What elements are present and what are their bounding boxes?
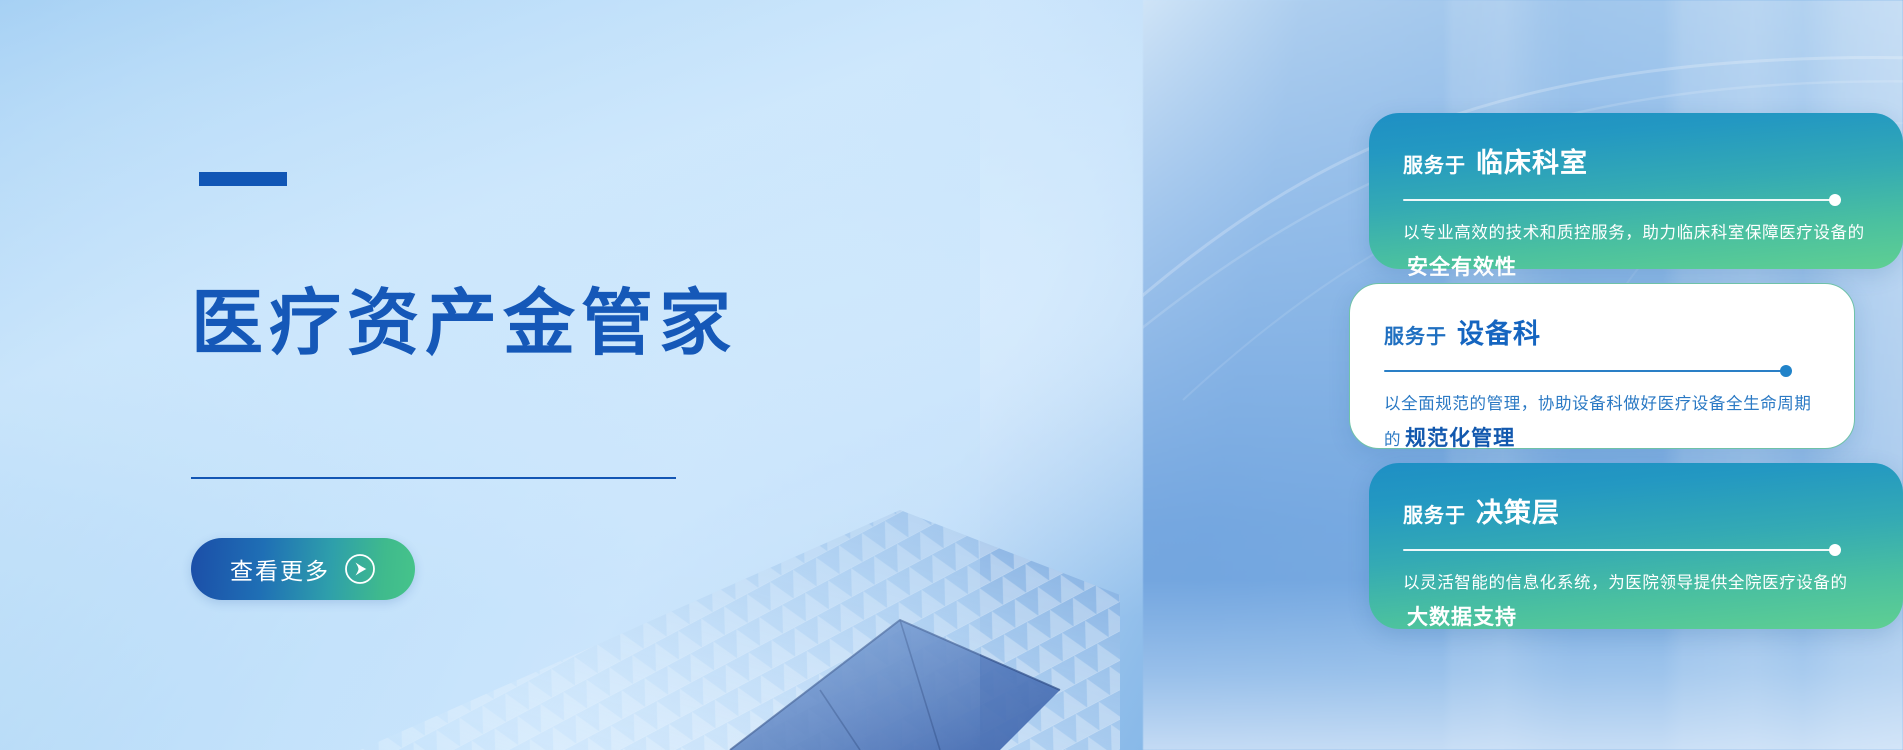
hero-left-content: 医疗资产金管家 查看更多 bbox=[191, 0, 891, 750]
card-heading: 服务于 决策层 bbox=[1403, 491, 1869, 530]
card-divider bbox=[1403, 194, 1869, 206]
divider-line bbox=[1384, 370, 1786, 372]
card-description-text: 以灵活智能的信息化系统，为医院领导提供全院医疗设备的 bbox=[1403, 574, 1848, 592]
divider-line bbox=[1403, 199, 1835, 201]
card-heading: 服务于 临床科室 bbox=[1403, 141, 1869, 180]
card-divider bbox=[1384, 365, 1820, 377]
view-more-label: 查看更多 bbox=[230, 552, 330, 586]
card-heading-subject: 临床科室 bbox=[1476, 141, 1588, 180]
accent-bar bbox=[199, 172, 287, 186]
card-description-text: 以专业高效的技术和质控服务，助力临床科室保障医疗设备的 bbox=[1403, 224, 1865, 242]
card-description-highlight: 大数据支持 bbox=[1407, 606, 1517, 629]
arrow-right-circle-icon bbox=[344, 553, 376, 585]
card-heading-prefix: 服务于 bbox=[1403, 499, 1466, 528]
card-heading: 服务于 设备科 bbox=[1384, 312, 1820, 351]
hero-banner: 医疗资产金管家 查看更多 服务于 临床科室 以专业高效的技术和质控服务，助力临床… bbox=[0, 0, 1903, 750]
title-divider-rule bbox=[191, 477, 676, 479]
service-card-decision-makers[interactable]: 服务于 决策层 以灵活智能的信息化系统，为医院领导提供全院医疗设备的大数据支持 bbox=[1369, 463, 1903, 629]
card-description-highlight: 安全有效性 bbox=[1407, 256, 1517, 279]
card-heading-prefix: 服务于 bbox=[1403, 149, 1466, 178]
divider-dot bbox=[1829, 544, 1841, 556]
page-title: 医疗资产金管家 bbox=[191, 288, 737, 360]
card-description-wrapper: 以全面规范的管理，协助设备科做好医疗设备全生命周期的规范化管理 bbox=[1384, 389, 1820, 458]
card-description-highlight: 规范化管理 bbox=[1405, 427, 1515, 450]
service-cards-list: 服务于 临床科室 以专业高效的技术和质控服务，助力临床科室保障医疗设备的安全有效… bbox=[1143, 0, 1903, 750]
divider-dot bbox=[1829, 194, 1841, 206]
card-description-wrapper: 以灵活智能的信息化系统，为医院领导提供全院医疗设备的大数据支持 bbox=[1403, 568, 1869, 637]
card-description-wrapper: 以专业高效的技术和质控服务，助力临床科室保障医疗设备的安全有效性 bbox=[1403, 218, 1869, 287]
divider-line bbox=[1403, 549, 1835, 551]
service-card-clinical-department[interactable]: 服务于 临床科室 以专业高效的技术和质控服务，助力临床科室保障医疗设备的安全有效… bbox=[1369, 113, 1903, 269]
card-heading-subject: 设备科 bbox=[1457, 312, 1541, 351]
card-divider bbox=[1403, 544, 1869, 556]
view-more-button[interactable]: 查看更多 bbox=[191, 538, 415, 600]
divider-dot bbox=[1780, 365, 1792, 377]
service-card-equipment-department[interactable]: 服务于 设备科 以全面规范的管理，协助设备科做好医疗设备全生命周期的规范化管理 bbox=[1349, 283, 1855, 449]
card-heading-prefix: 服务于 bbox=[1384, 320, 1447, 349]
card-heading-subject: 决策层 bbox=[1476, 491, 1560, 530]
